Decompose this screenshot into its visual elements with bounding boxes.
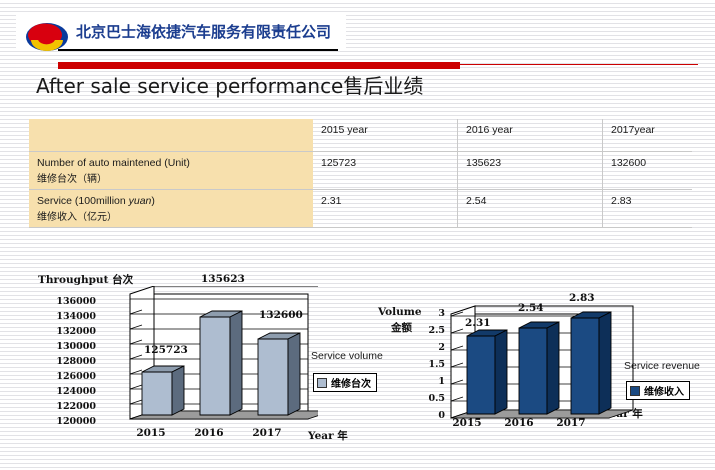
throughput-ytick-4: 128000 <box>30 356 96 367</box>
throughput-plot-area <box>98 286 318 431</box>
cell-revenue-2016: 2.54 <box>458 189 603 227</box>
revenue-ytick-1: 0.5 <box>403 393 445 404</box>
cell-revenue-2017: 2.83 <box>603 189 693 227</box>
throughput-ytick-7: 134000 <box>30 311 96 322</box>
row-label-cn: 维修台次（辆） <box>37 172 307 187</box>
header-underline <box>58 49 338 51</box>
row-label-en-part1: Service (100million <box>37 195 129 207</box>
table-col-header-2: 2016 year <box>458 119 603 152</box>
throughput-ytick-2: 124000 <box>30 386 96 397</box>
revenue-datalabel-2017: 2.83 <box>569 292 595 304</box>
slide-canvas: 北京巴士海依捷汽车服务有限责任公司 After sale service per… <box>0 0 715 470</box>
cell-auto-2016: 135623 <box>458 152 603 190</box>
revenue-ytick-5: 2.5 <box>403 325 445 336</box>
revenue-ytick-3: 1.5 <box>403 359 445 370</box>
throughput-ytick-6: 132000 <box>30 326 96 337</box>
revenue-series-note: Service revenue <box>624 360 700 372</box>
throughput-datalabel-2015: 125723 <box>144 344 188 356</box>
throughput-legend-swatch-icon <box>317 378 327 388</box>
throughput-datalabel-2016: 135623 <box>201 273 245 285</box>
row-label-service-revenue: Service (100million yuan) 维修收入（亿元） <box>29 189 313 227</box>
revenue-xtick-2017: 2017 <box>545 417 597 429</box>
company-logo-icon <box>25 22 69 52</box>
revenue-plot-area <box>447 292 647 422</box>
row-label-en-part2: ) <box>151 195 155 207</box>
revenue-datalabel-2015: 2.31 <box>465 317 491 329</box>
table-header-row: 2015 year 2016 year 2017year <box>29 119 692 152</box>
throughput-ytick-3: 126000 <box>30 371 96 382</box>
throughput-ytick-0: 120000 <box>30 416 96 427</box>
revenue-ytick-6: 3 <box>403 308 445 319</box>
throughput-ytick-1: 122000 <box>30 401 96 412</box>
table-col-header-1: 2015 year <box>313 119 458 152</box>
revenue-legend-swatch-icon <box>630 386 640 396</box>
cell-auto-2015: 125723 <box>313 152 458 190</box>
row-label-cn: 维修收入（亿元） <box>37 210 307 225</box>
cell-revenue-2015: 2.31 <box>313 189 458 227</box>
title-red-rule <box>460 64 698 65</box>
revenue-chart: Volume 金额 Year 年 0 0.5 1 1.5 2 2.5 3 <box>373 286 715 468</box>
row-label-en: Number of auto maintened (Unit) <box>37 156 307 172</box>
revenue-datalabel-2016: 2.54 <box>518 302 544 314</box>
page-title: After sale service performance售后业绩 <box>36 70 423 99</box>
revenue-xtick-2015: 2015 <box>441 417 493 429</box>
title-red-bar <box>58 62 460 69</box>
table-col-header-0 <box>29 119 313 152</box>
throughput-datalabel-2017: 132600 <box>259 309 303 321</box>
table-col-header-3: 2017year <box>603 119 693 152</box>
row-label-en: Service (100million yuan) <box>37 194 307 210</box>
throughput-xtick-2017: 2017 <box>239 427 295 439</box>
throughput-y-axis-title: Throughput 台次 <box>38 272 133 287</box>
revenue-ytick-2: 1 <box>403 376 445 387</box>
throughput-legend-label: 维修台次 <box>331 375 371 390</box>
performance-table: 2015 year 2016 year 2017year Number of a… <box>29 119 692 228</box>
throughput-xtick-2015: 2015 <box>123 427 179 439</box>
revenue-xtick-2016: 2016 <box>493 417 545 429</box>
row-label-en-unit: yuan <box>129 195 152 207</box>
row-label-auto-maintained: Number of auto maintened (Unit) 维修台次（辆） <box>29 152 313 190</box>
throughput-ytick-5: 130000 <box>30 341 96 352</box>
throughput-chart: Throughput 台次 Year 年 120000 122000 12400… <box>30 268 375 468</box>
revenue-ytick-4: 2 <box>403 342 445 353</box>
cell-auto-2017: 132600 <box>603 152 693 190</box>
revenue-ytick-0: 0 <box>403 410 445 421</box>
revenue-legend-label: 维修收入 <box>644 383 684 398</box>
revenue-legend[interactable]: 维修收入 <box>626 381 690 400</box>
company-name: 北京巴士海依捷汽车服务有限责任公司 <box>76 21 331 42</box>
throughput-series-note: Service volume <box>311 350 383 362</box>
throughput-legend[interactable]: 维修台次 <box>313 373 377 392</box>
throughput-xtick-2016: 2016 <box>181 427 237 439</box>
table-row: Number of auto maintened (Unit) 维修台次（辆） … <box>29 152 692 190</box>
table-row: Service (100million yuan) 维修收入（亿元） 2.31 … <box>29 189 692 227</box>
throughput-ytick-8: 136000 <box>30 296 96 307</box>
